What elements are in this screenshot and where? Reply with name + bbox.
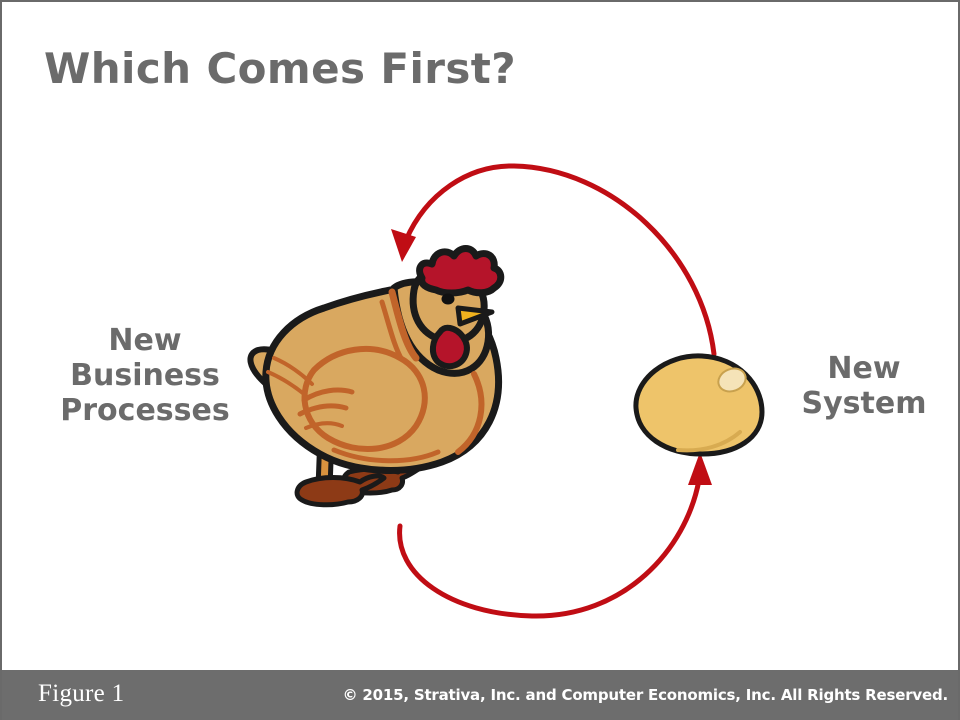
- slide-canvas: Which Comes First? New Business Processe…: [0, 0, 960, 720]
- chicken-comb-icon: [420, 249, 501, 294]
- diagram-stage: [2, 2, 960, 670]
- chicken-illustration: [250, 249, 500, 505]
- chicken-eye-icon: [442, 294, 455, 305]
- chicken-wing-icon: [305, 349, 425, 449]
- figure-label: Figure 1: [38, 680, 124, 708]
- copyright-notice: © 2015, Strativa, Inc. and Computer Econ…: [343, 686, 948, 704]
- chicken-wattle-icon: [433, 328, 467, 366]
- egg-illustration: [636, 356, 762, 454]
- footer-bar: Figure 1 © 2015, Strativa, Inc. and Comp…: [2, 670, 960, 720]
- arrow-chicken-to-egg: [400, 452, 712, 616]
